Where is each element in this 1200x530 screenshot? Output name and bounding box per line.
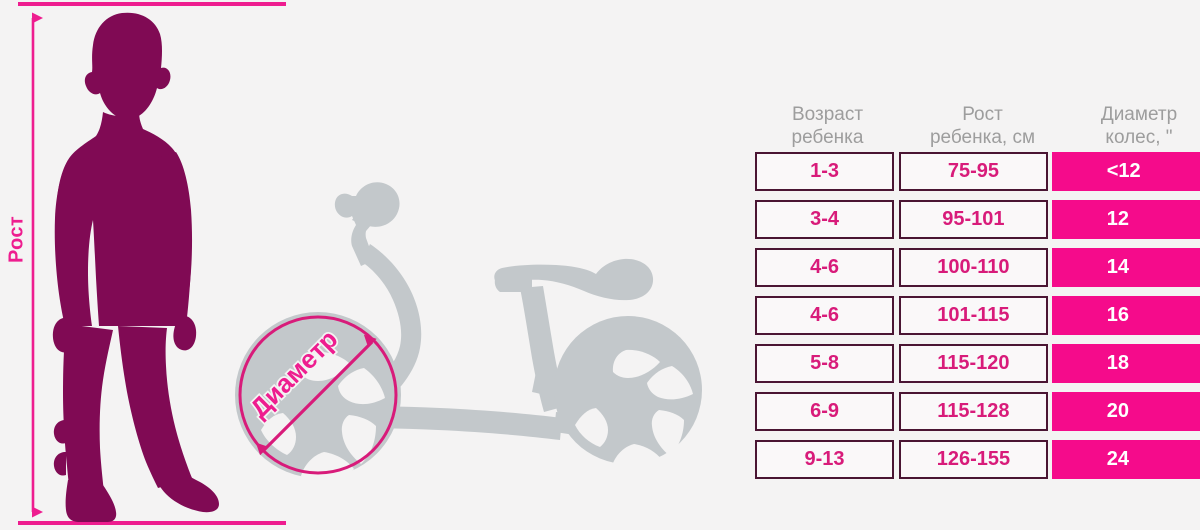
rear-wheel	[554, 316, 702, 474]
child-silhouette	[53, 13, 219, 522]
column-header-wheel: Диаметр колес, "	[1064, 103, 1200, 152]
size-chart-table: Возраст ребенка Рост ребенка, см Диаметр…	[755, 92, 1200, 488]
table-row: 9-13 126-155 24	[755, 440, 1200, 479]
table-row: 4-6 100-110 14	[755, 248, 1200, 287]
height-label: Рост	[6, 205, 29, 275]
cell-height: 115-128	[899, 392, 1048, 431]
infographic-root: Диаметр Рост Возраст ребенка Рост ребенк…	[0, 0, 1200, 530]
cell-wheel: <12	[1052, 152, 1200, 191]
cell-height: 115-120	[899, 344, 1048, 383]
cell-wheel: 18	[1052, 344, 1200, 383]
table-row: 3-4 95-101 12	[755, 200, 1200, 239]
cell-age: 4-6	[755, 296, 894, 335]
cell-age: 6-9	[755, 392, 894, 431]
column-header-age: Возраст ребенка	[755, 103, 900, 152]
table-row: 5-8 115-120 18	[755, 344, 1200, 383]
column-header-height: Рост ребенка, см	[905, 103, 1060, 152]
cell-height: 126-155	[899, 440, 1048, 479]
cell-height: 95-101	[899, 200, 1048, 239]
balance-bike-silhouette	[235, 182, 702, 484]
table-row: 6-9 115-128 20	[755, 392, 1200, 431]
cell-wheel: 16	[1052, 296, 1200, 335]
illustration-panel: Диаметр	[0, 0, 760, 530]
cell-wheel: 20	[1052, 392, 1200, 431]
cell-age: 1-3	[755, 152, 894, 191]
cell-wheel: 12	[1052, 200, 1200, 239]
cell-height: 101-115	[899, 296, 1048, 335]
cell-height: 100-110	[899, 248, 1048, 287]
cell-wheel: 14	[1052, 248, 1200, 287]
table-header-row: Возраст ребенка Рост ребенка, см Диаметр…	[755, 92, 1200, 152]
cell-height: 75-95	[899, 152, 1048, 191]
cell-age: 5-8	[755, 344, 894, 383]
cell-wheel: 24	[1052, 440, 1200, 479]
cell-age: 3-4	[755, 200, 894, 239]
cell-age: 4-6	[755, 248, 894, 287]
table-row: 4-6 101-115 16	[755, 296, 1200, 335]
table-row: 1-3 75-95 <12	[755, 152, 1200, 191]
cell-age: 9-13	[755, 440, 894, 479]
